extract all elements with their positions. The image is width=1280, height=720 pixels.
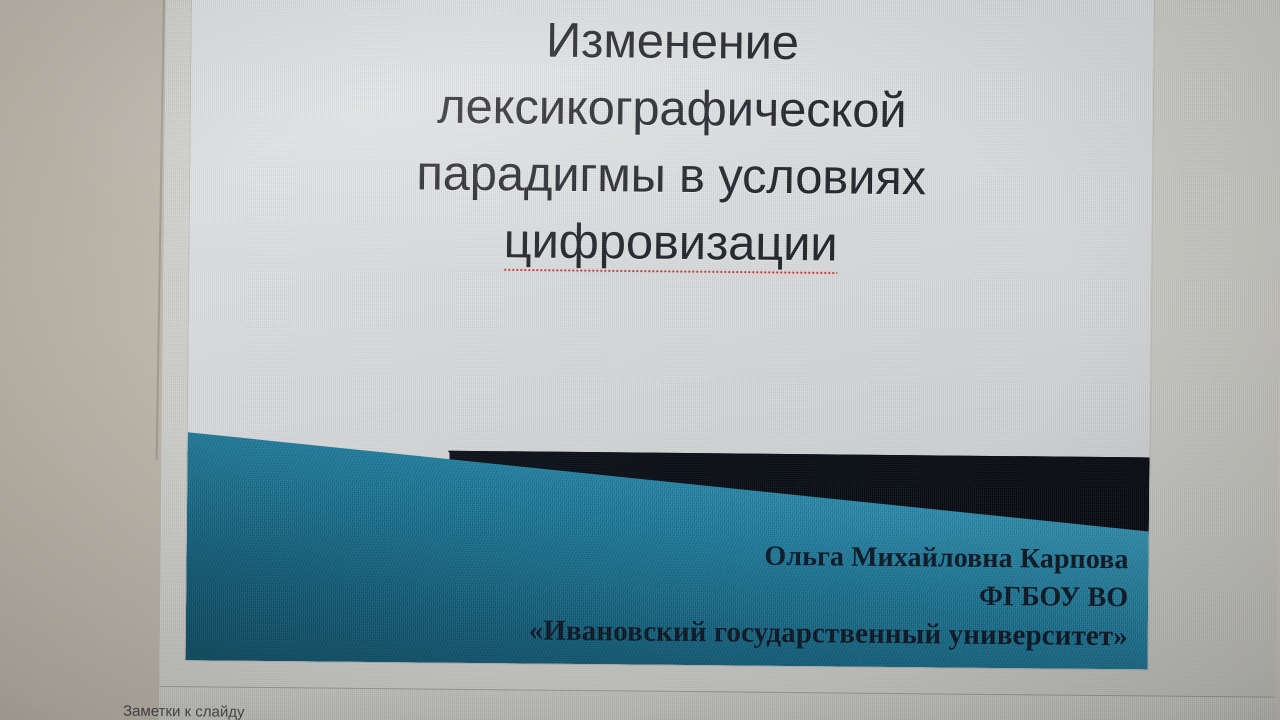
title-line-4: цифровизации — [503, 208, 837, 280]
slide-canvas[interactable]: Изменение лексикографической парадигмы в… — [186, 0, 1155, 669]
notes-pane-label: Заметки к слайду — [123, 703, 245, 720]
title-line-3: парадигмы в условиях — [246, 139, 1097, 214]
slide-banner: Ольга Михайловна Карпова ФГБОУ ВО «Ивано… — [186, 410, 1150, 669]
slide-title[interactable]: Изменение лексикографической парадигмы в… — [189, 4, 1154, 283]
title-line-2: лексикографической — [247, 72, 1098, 147]
notes-pane[interactable]: Заметки к слайду — [159, 686, 1275, 720]
title-line-4-wrapper: цифровизации — [245, 206, 1096, 283]
screen-photo: Изменение лексикографической парадигмы в… — [0, 0, 1280, 720]
title-line-1: Изменение — [247, 5, 1098, 80]
presentation-app-window: Изменение лексикографической парадигмы в… — [159, 0, 1280, 720]
author-credits[interactable]: Ольга Михайловна Карпова ФГБОУ ВО «Ивано… — [186, 532, 1135, 655]
